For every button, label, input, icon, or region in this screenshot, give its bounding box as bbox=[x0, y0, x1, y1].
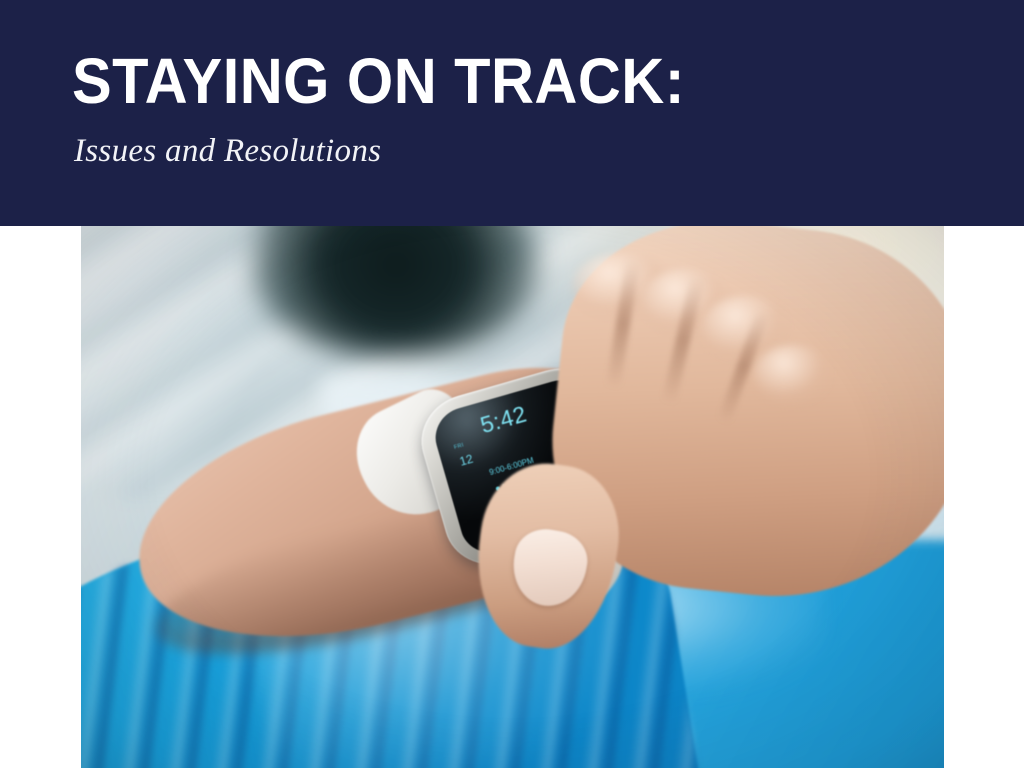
presentation-slide: STAYING ON TRACK: Issues and Resolutions bbox=[0, 0, 1024, 768]
hero-photo: 5:42 FRI 12 9:00-6:00PM Apple 1811 Willi… bbox=[81, 226, 944, 768]
header-band: STAYING ON TRACK: Issues and Resolutions bbox=[0, 0, 1024, 226]
watch-date: 12 bbox=[458, 453, 474, 468]
page-subtitle: Issues and Resolutions bbox=[74, 131, 381, 171]
photo-canvas: 5:42 FRI 12 9:00-6:00PM Apple 1811 Willi… bbox=[81, 226, 944, 768]
watch-day-label: FRI bbox=[453, 443, 464, 452]
hand-knuckle bbox=[754, 345, 832, 405]
watch-time: 5:42 bbox=[477, 403, 528, 438]
page-title: STAYING ON TRACK: bbox=[72, 48, 685, 114]
